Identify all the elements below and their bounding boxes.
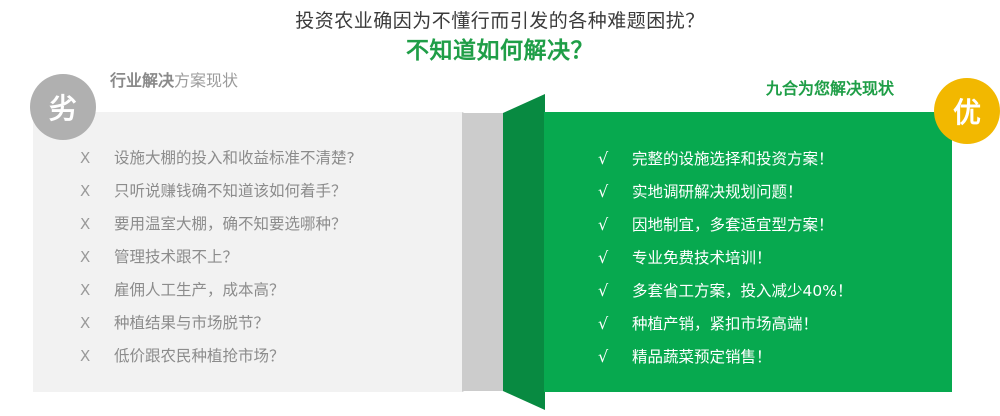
list-item-label: 实地调研解决规划问题！ [632,176,803,209]
gray-fold-bottom-notch [462,391,504,410]
list-item: X 只听说赚钱确不知道该如何着手？ [80,175,460,208]
list-item-label: 低价跟农民种植抢市场？ [114,340,285,373]
left-panel-heading: 行业解决方案现状 [110,70,238,92]
check-icon: √ [598,175,632,208]
cross-icon: X [80,340,114,373]
list-item: X 要用温室大棚，确不知要选哪种？ [80,208,460,241]
list-item: √ 专业免费技术培训！ [598,241,948,274]
gray-fold-band [462,112,504,392]
problem-list: X 设施大棚的投入和收益标准不清楚? X 只听说赚钱确不知道该如何着手？ X 要… [80,142,460,373]
badge-superior: 优 [934,78,1000,144]
cross-icon: X [80,175,114,208]
check-icon: √ [598,142,632,175]
list-item-label: 多套省工方案，投入减少40%！ [632,275,852,308]
comparison-infographic: 投资农业确因为不懂行而引发的各种难题困扰？ 不知道如何解决？ 行业解决方案现状 … [0,0,1000,416]
list-item-label: 完整的设施选择和投资方案！ [632,143,834,176]
list-item-label: 要用温室大棚，确不知要选哪种？ [114,208,347,241]
solution-list: √ 完整的设施选择和投资方案！ √ 实地调研解决规划问题！ √ 因地制宜，多套适… [598,142,948,373]
headline-emphasis: 不知道如何解决？ [0,36,1000,66]
list-item: √ 实地调研解决规划问题！ [598,175,948,208]
list-item-label: 专业免费技术培训！ [632,242,772,275]
check-icon: √ [598,208,632,241]
check-icon: √ [598,340,632,373]
list-item: √ 种植产销，紧扣市场高端！ [598,307,948,340]
cross-icon: X [80,142,114,175]
list-item: X 雇佣人工生产，成本高？ [80,274,460,307]
check-icon: √ [598,241,632,274]
list-item-label: 因地制宜，多套适宜型方案！ [632,209,834,242]
cross-icon: X [80,307,114,340]
list-item-label: 设施大棚的投入和收益标准不清楚? [114,142,355,175]
list-item-label: 种植产销，紧扣市场高端！ [632,308,818,341]
cross-icon: X [80,208,114,241]
right-panel-heading: 九合为您解决现状 [766,78,894,100]
check-icon: √ [598,307,632,340]
list-item: √ 精品蔬菜预定销售！ [598,340,948,373]
list-item-label: 雇佣人工生产，成本高？ [114,274,285,307]
gray-fold-top-notch [462,94,504,113]
list-item-label: 只听说赚钱确不知道该如何着手？ [114,175,347,208]
list-item: √ 多套省工方案，投入减少40%！ [598,274,948,307]
list-item: X 设施大棚的投入和收益标准不清楚? [80,142,460,175]
list-item: √ 完整的设施选择和投资方案！ [598,142,948,175]
list-item: X 管理技术跟不上？ [80,241,460,274]
list-item-label: 种植结果与市场脱节？ [114,307,269,340]
check-icon: √ [598,274,632,307]
list-item: X 种植结果与市场脱节？ [80,307,460,340]
headline-block: 投资农业确因为不懂行而引发的各种难题困扰？ 不知道如何解决？ [0,8,1000,66]
list-item-label: 管理技术跟不上？ [114,241,238,274]
cross-icon: X [80,241,114,274]
cross-icon: X [80,274,114,307]
left-heading-rest: 方案现状 [174,71,238,90]
headline-question: 投资农业确因为不懂行而引发的各种难题困扰？ [0,8,1000,34]
green-fold-band [503,94,545,410]
badge-inferior: 劣 [30,74,96,140]
left-heading-strong: 行业解决 [110,71,174,90]
list-item: X 低价跟农民种植抢市场？ [80,340,460,373]
list-item: √ 因地制宜，多套适宜型方案！ [598,208,948,241]
list-item-label: 精品蔬菜预定销售！ [632,341,772,374]
